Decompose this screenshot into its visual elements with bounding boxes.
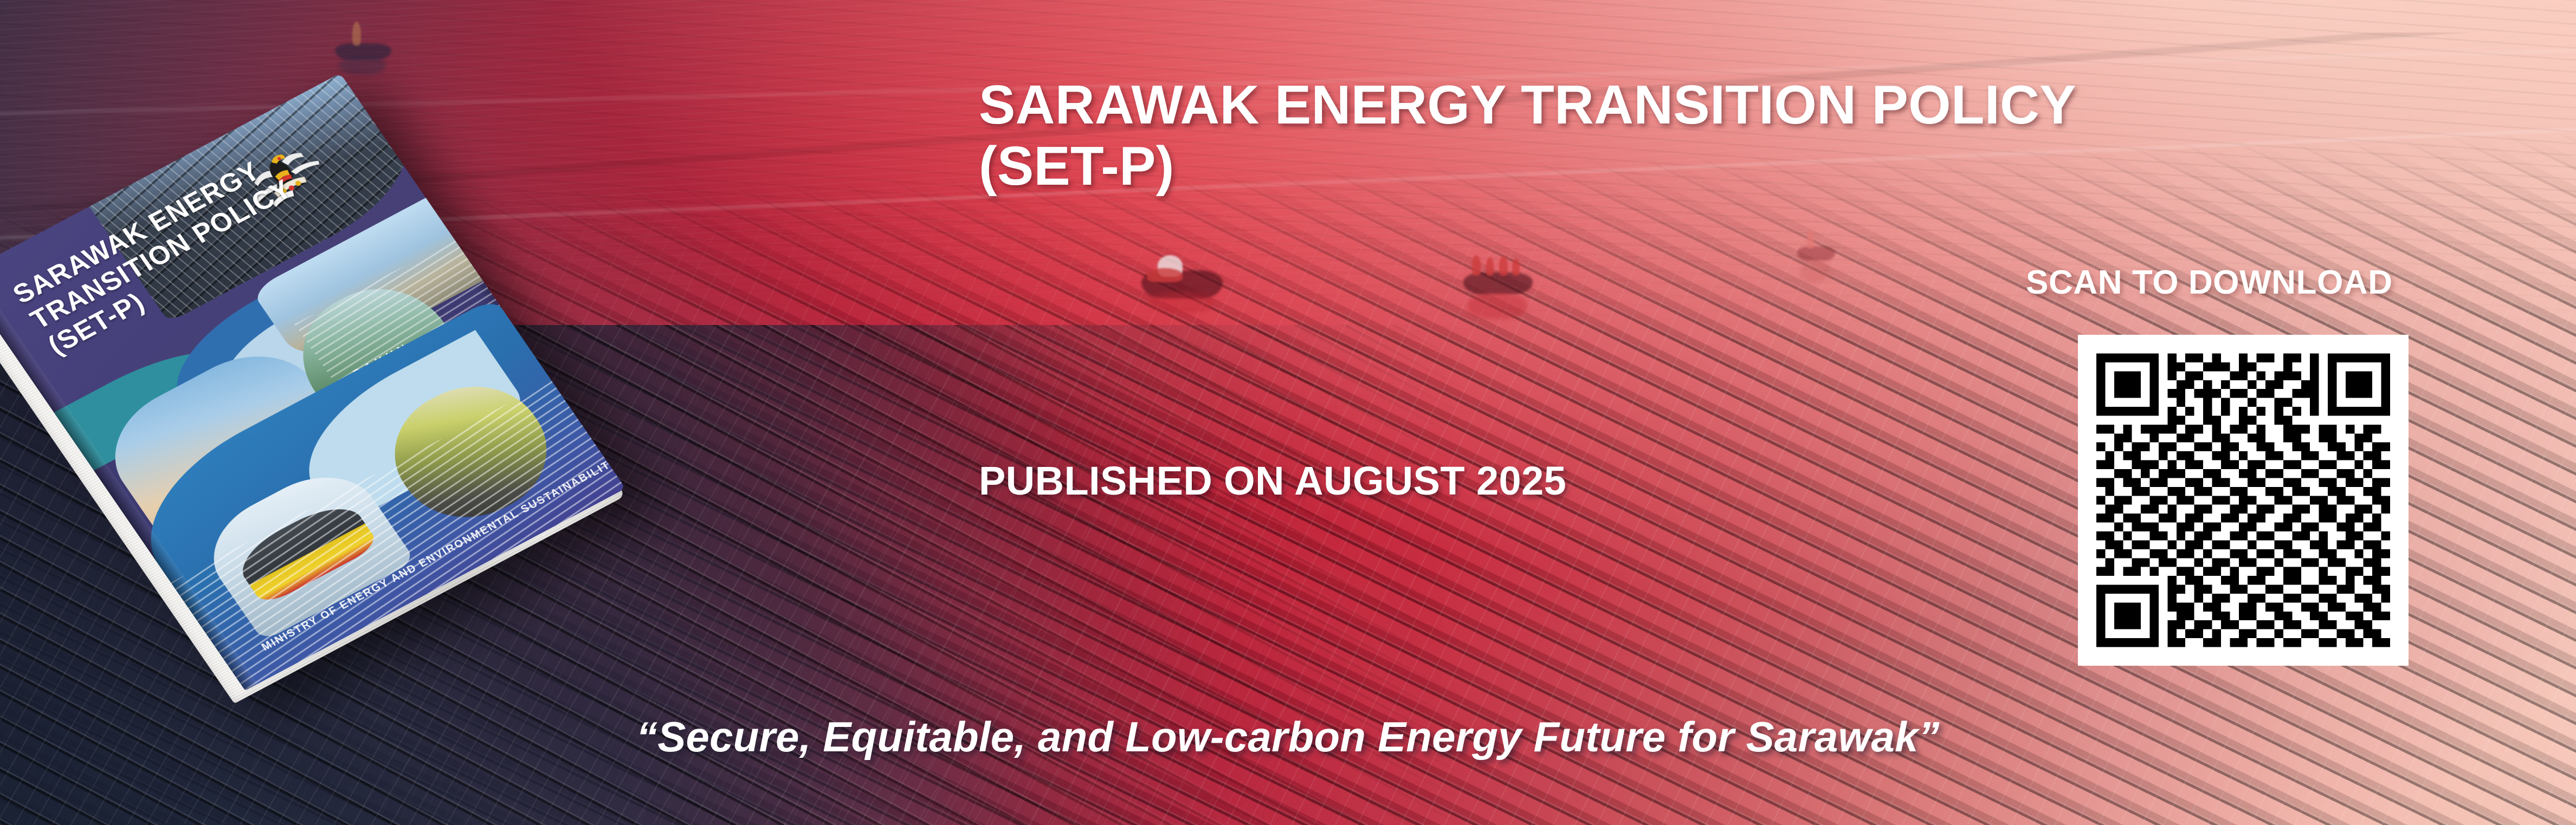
background-boat-1 [1138,246,1233,309]
qr-code-matrix [2096,353,2390,647]
headline-line-1: SARAWAK ENERGY TRANSITION POLICY [979,75,2117,136]
banner-canvas: BAKUN [0,0,2576,825]
background-boat-3 [1794,225,1843,282]
background-boat-2 [1458,246,1545,317]
headline-line-2: (SET-P) [979,136,2117,197]
qr-code[interactable] [2078,335,2409,666]
banner-tagline: “Secure, Equitable, and Low-carbon Energ… [0,712,2576,762]
banner-headline: SARAWAK ENERGY TRANSITION POLICY (SET-P) [979,75,2117,197]
background-boat-4 [331,16,401,76]
published-date-text: PUBLISHED ON AUGUST 2025 [979,458,1566,504]
scan-to-download-label: SCAN TO DOWNLOAD [2026,263,2393,302]
